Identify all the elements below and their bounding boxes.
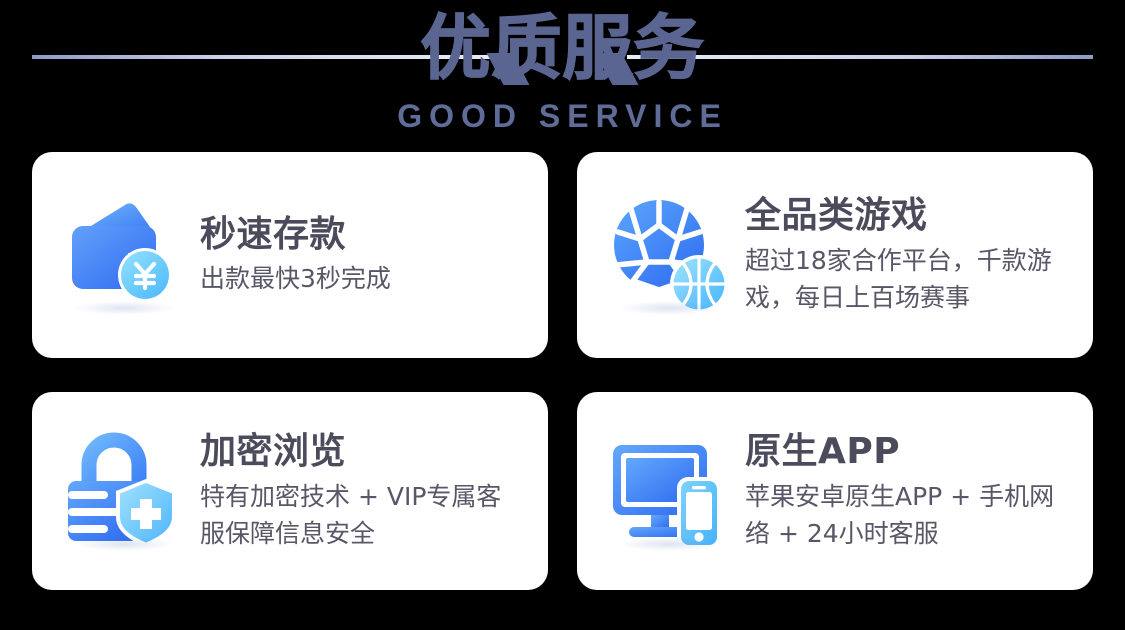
card-title: 全品类游戏 [745,194,1067,238]
feature-card-native-app[interactable]: 原生APP 苹果安卓原生APP + 手机网络 + 24小时客服 [577,392,1093,590]
card-description: 出款最快3秒完成 [200,261,522,297]
feature-card-encryption[interactable]: 加密浏览 特有加密技术 + VIP专属客服保障信息安全 [32,392,548,590]
feature-card-grid: 秒速存款 出款最快3秒完成 [32,152,1093,590]
card-title: 原生APP [745,430,1067,474]
card-text: 全品类游戏 超过18家合作平台，千款游戏，每日上百场赛事 [745,194,1067,316]
card-title: 加密浏览 [200,430,522,474]
soccer-basketball-icon [607,193,731,317]
lock-shield-icon [62,429,186,553]
card-description: 特有加密技术 + VIP专属客服保障信息安全 [200,478,522,552]
feature-card-games[interactable]: 全品类游戏 超过18家合作平台，千款游戏，每日上百场赛事 [577,152,1093,358]
card-description: 苹果安卓原生APP + 手机网络 + 24小时客服 [745,478,1067,552]
page-header: 优质服务 GOOD SERVICE [0,0,1125,148]
card-description: 超过18家合作平台，千款游戏，每日上百场赛事 [745,242,1067,316]
feature-card-deposit[interactable]: 秒速存款 出款最快3秒完成 [32,152,548,358]
card-text: 秒速存款 出款最快3秒完成 [200,213,522,297]
page-title: 优质服务 [0,8,1125,88]
wallet-icon [62,193,186,317]
page-root: 优质服务 GOOD SERVICE [0,0,1125,630]
card-text: 加密浏览 特有加密技术 + VIP专属客服保障信息安全 [200,430,522,552]
card-text: 原生APP 苹果安卓原生APP + 手机网络 + 24小时客服 [745,430,1067,552]
monitor-phone-icon [607,429,731,553]
card-title: 秒速存款 [200,213,522,257]
page-subtitle: GOOD SERVICE [0,97,1125,135]
